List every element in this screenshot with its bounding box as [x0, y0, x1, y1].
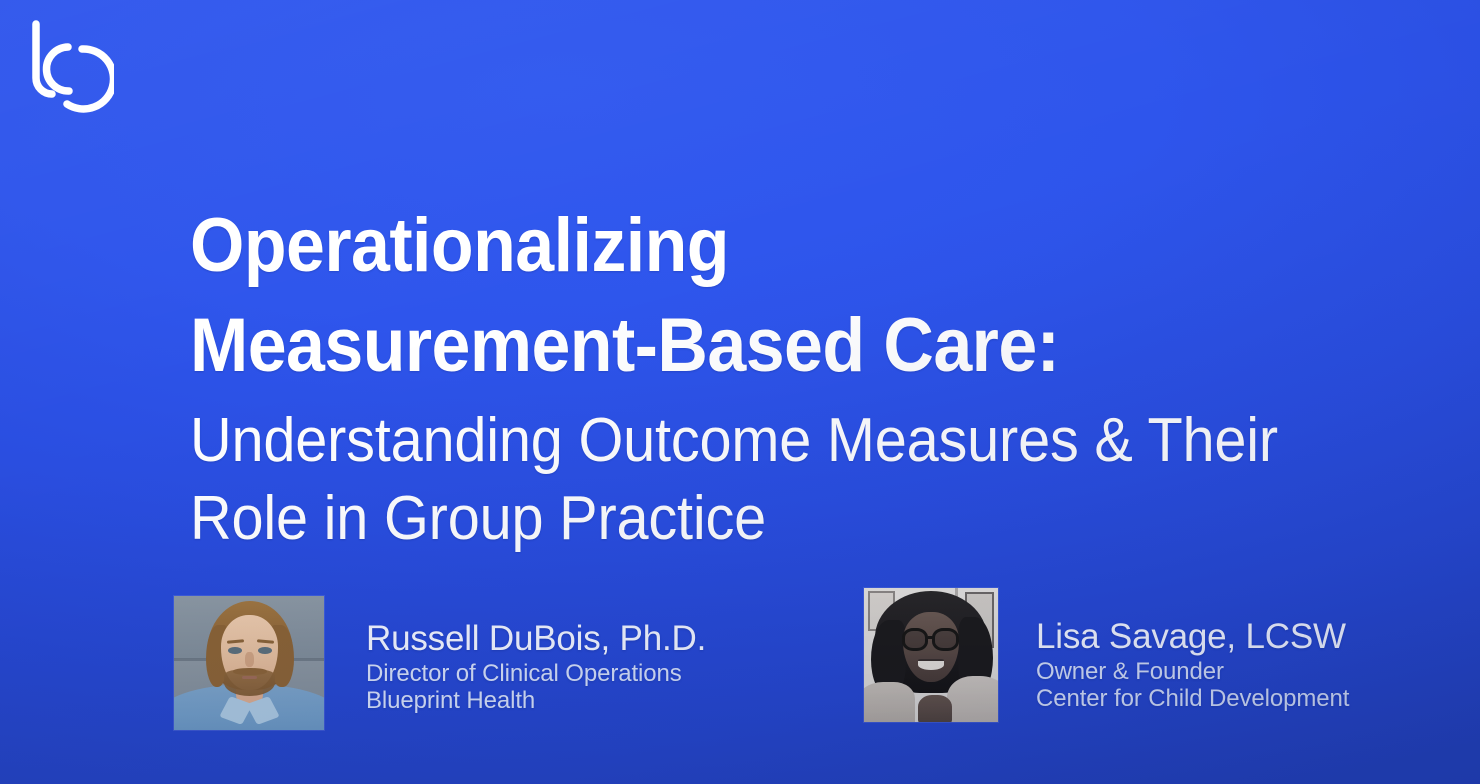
page-subtitle: Understanding Outcome Measures & Their R…	[190, 402, 1430, 558]
speaker-2-text: Lisa Savage, LCSW Owner & Founder Center…	[998, 588, 1349, 712]
page-subtitle-line-1: Understanding Outcome Measures & Their	[190, 402, 1343, 480]
speaker-card-2: Lisa Savage, LCSW Owner & Founder Center…	[864, 588, 1349, 722]
speaker-2-name: Lisa Savage, LCSW	[1036, 618, 1349, 656]
avatar-russell-dubois	[174, 596, 324, 730]
speaker-2-role: Owner & Founder	[1036, 658, 1349, 685]
page-subtitle-line-2: Role in Group Practice	[190, 480, 1343, 558]
speaker-2-organization: Center for Child Development	[1036, 685, 1349, 712]
avatar-lisa-savage	[864, 588, 998, 722]
speaker-1-name: Russell DuBois, Ph.D.	[366, 620, 706, 658]
blueprint-b-logo	[22, 16, 114, 116]
page-title-line-2: Measurement-Based Care:	[190, 296, 1331, 396]
speaker-card-1: Russell DuBois, Ph.D. Director of Clinic…	[174, 596, 706, 730]
page-title-line-1: Operationalizing	[190, 196, 1331, 296]
speaker-1-role: Director of Clinical Operations	[366, 660, 706, 687]
headline-block: Operationalizing Measurement-Based Care:…	[190, 196, 1430, 558]
webinar-title-slide: Operationalizing Measurement-Based Care:…	[0, 0, 1480, 784]
speaker-1-organization: Blueprint Health	[366, 687, 706, 714]
speaker-1-text: Russell DuBois, Ph.D. Director of Clinic…	[324, 596, 706, 714]
